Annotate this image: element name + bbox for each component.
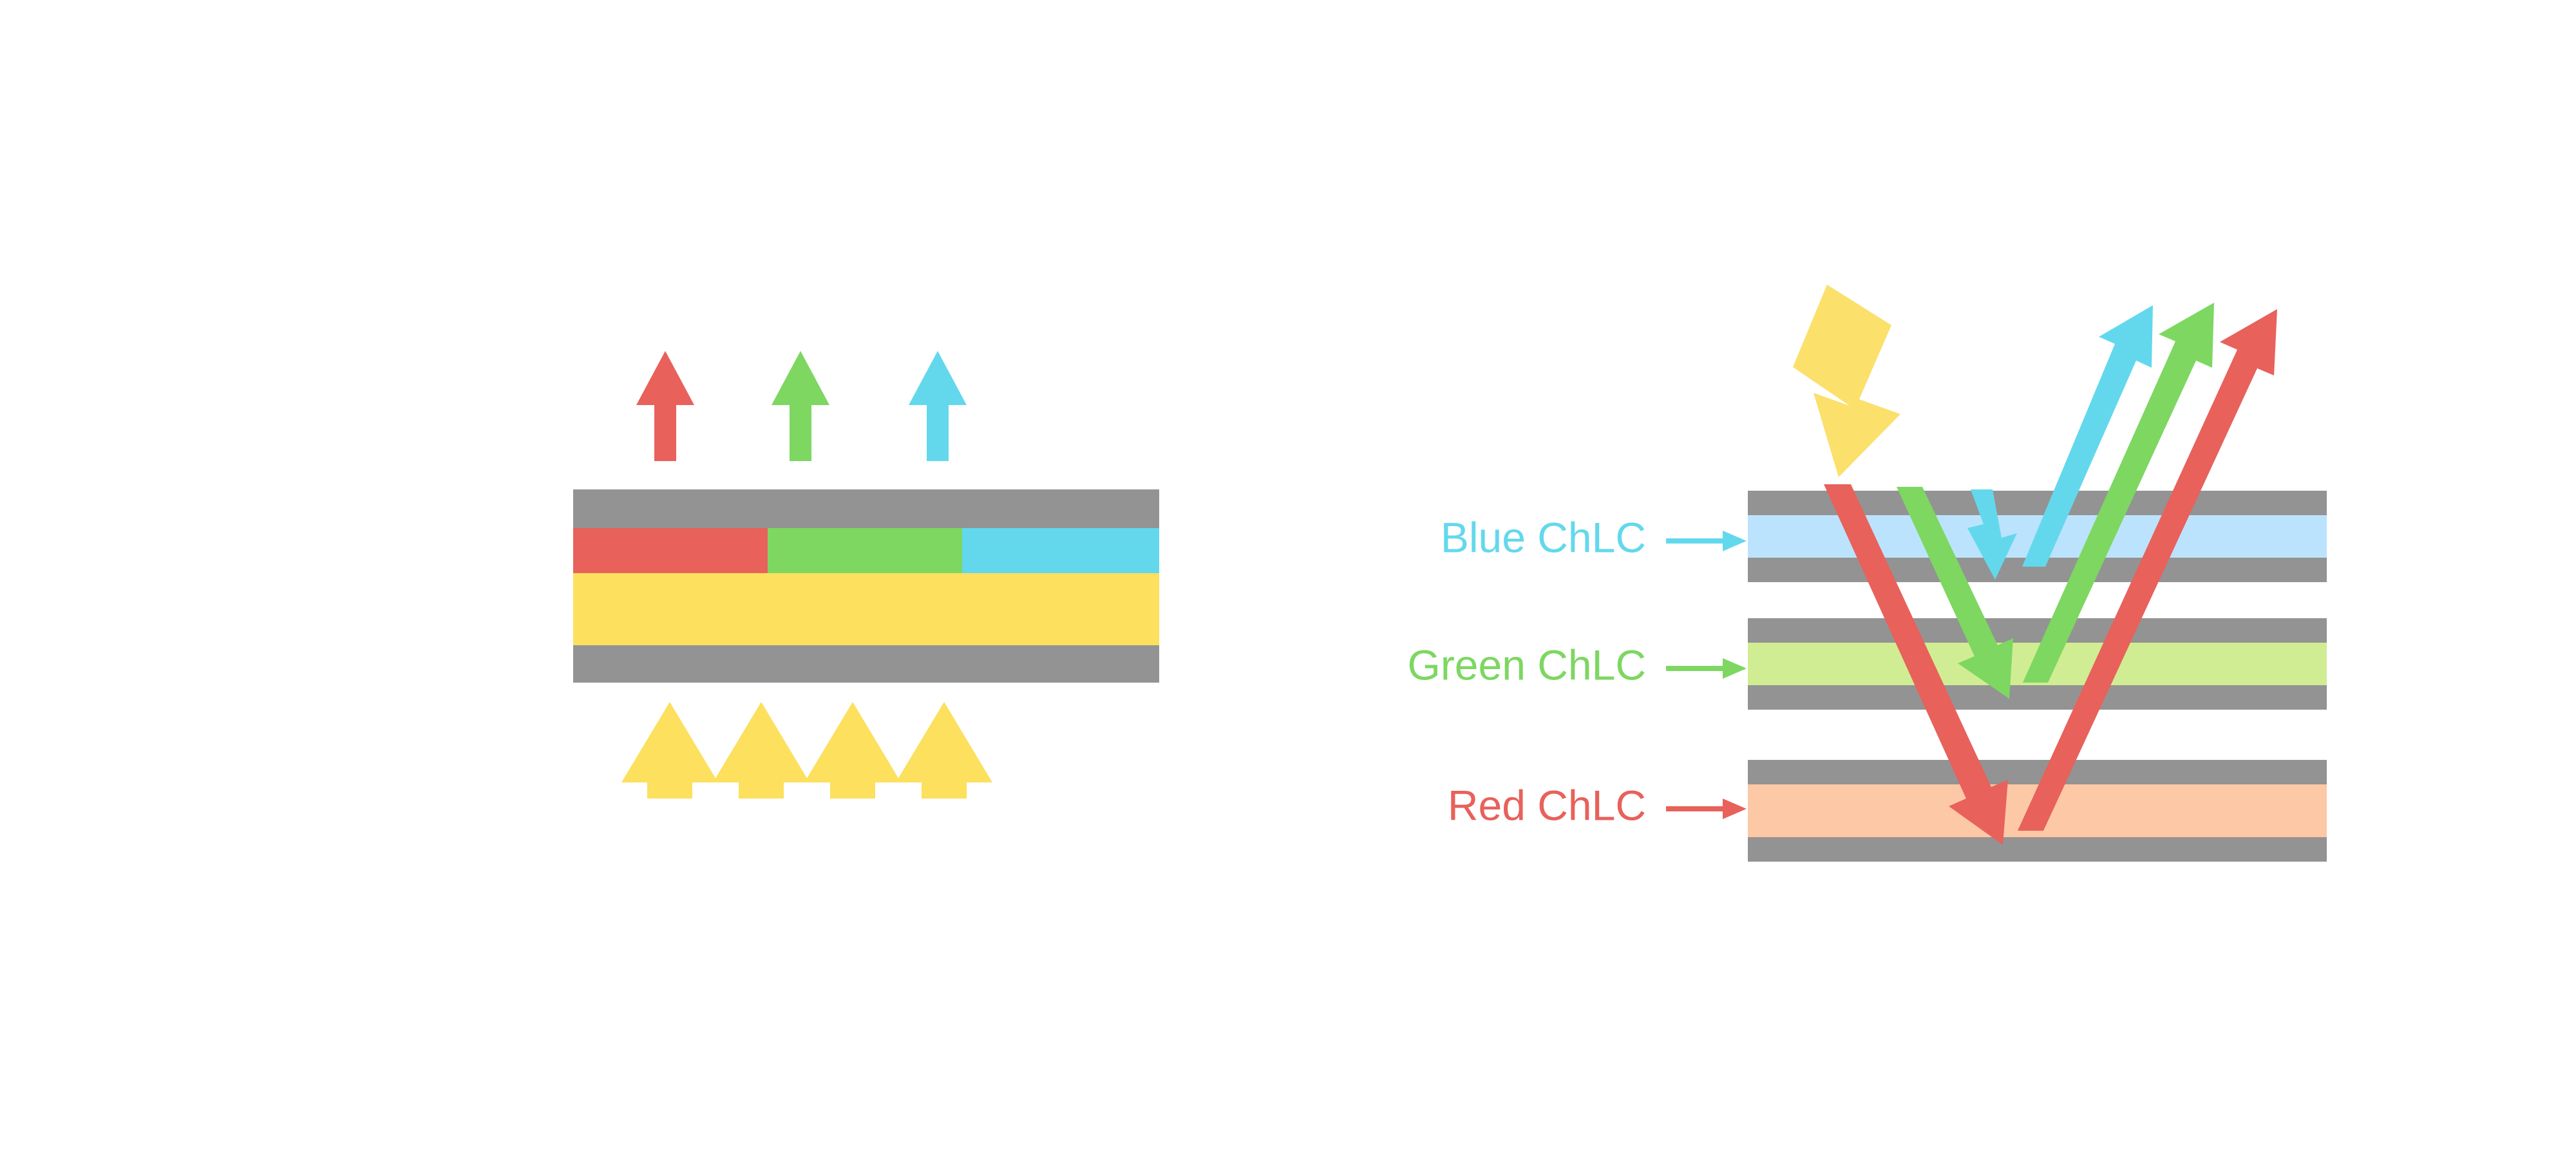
red-cell-top-electrode [1748,760,2327,784]
green-cell-top-electrode [1748,618,2327,643]
blue-label-arrow-icon [1666,531,1747,551]
green-cell-bottom-electrode [1748,685,2327,710]
red-label-arrow-icon [1666,799,1747,819]
blue-chlc-label: Blue ChLC [1441,513,1646,561]
label-arrows-group [1666,531,1747,819]
red-cell-bottom-electrode [1748,837,2327,862]
right-panel: Blue ChLC Green ChLC Red ChLC [0,0,2576,1154]
red-chlc-label: Red ChLC [1448,781,1646,829]
diagram-stage: Blue ChLC Green ChLC Red ChLC [0,0,2576,1154]
white-light-incoming-arrow [1793,285,1900,477]
labels-group: Blue ChLC Green ChLC Red ChLC [1407,513,1646,829]
green-chlc-label: Green ChLC [1407,641,1646,688]
green-label-arrow-icon [1666,658,1747,679]
right-panel-graphics: Blue ChLC Green ChLC Red ChLC [0,0,2576,1154]
